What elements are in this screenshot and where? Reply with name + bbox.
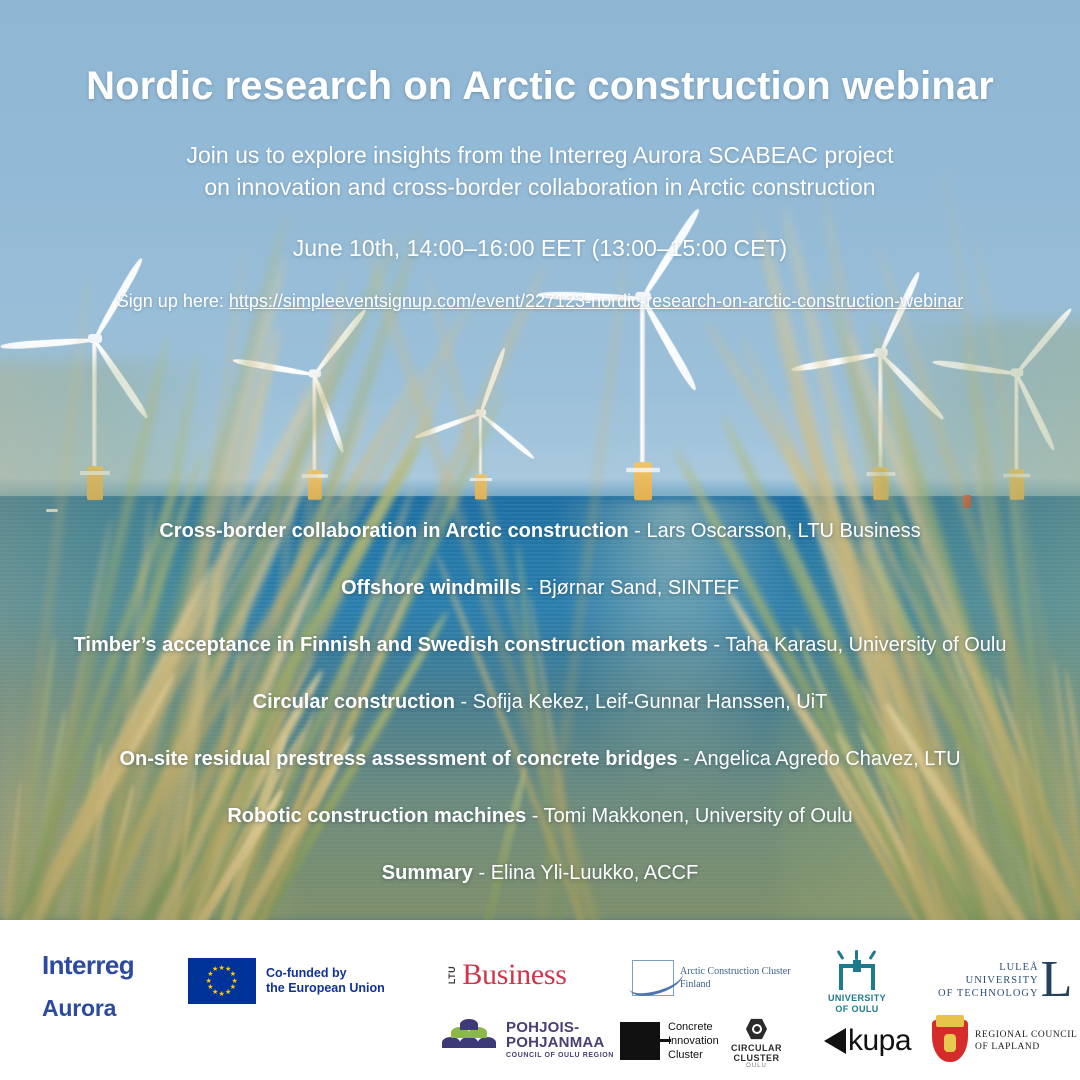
pohjois-fan-shape	[442, 1037, 460, 1048]
agenda-speaker: - Sofija Kekez, Leif-Gunnar Hanssen, UiT	[455, 691, 827, 713]
lapland-text: REGIONAL COUNCIL OF LAPLAND	[975, 1029, 1077, 1053]
lulea-initial-icon: L	[1041, 960, 1073, 1000]
eu-star-icon: ★	[219, 965, 225, 972]
logo-pohjois-pohjanmaa: POHJOIS- POHJANMAA COUNCIL OF OULU REGIO…	[440, 1020, 614, 1059]
event-datetime: June 10th, 14:00–16:00 EET (13:00–15:00 …	[0, 203, 1080, 262]
agenda-topic: Robotic construction machines	[227, 805, 526, 827]
agenda-speaker: - Angelica Agredo Chavez, LTU	[677, 748, 960, 770]
eu-star-icon: ★	[219, 991, 225, 998]
kupa-arrow-icon	[824, 1028, 846, 1054]
wind-turbine	[92, 338, 97, 498]
wind-turbine	[878, 352, 883, 498]
distant-boat	[46, 509, 58, 512]
pohjois-name: POHJOIS- POHJANMAA	[506, 1020, 614, 1050]
agenda-topic: Circular construction	[253, 691, 455, 713]
agenda-list: Cross-border collaboration in Arctic con…	[0, 520, 1080, 919]
accf-square-icon	[632, 960, 674, 996]
agenda-item: Robotic construction machines - Tomi Mak…	[0, 805, 1080, 828]
agenda-speaker: - Bjørnar Sand, SINTEF	[521, 577, 739, 599]
logo-concrete-innovation-cluster: Concrete Innovation Cluster	[620, 1020, 719, 1062]
signup-line: Sign up here: https://simpleeventsignup.…	[0, 262, 1080, 312]
eu-star-icon: ★	[225, 989, 231, 996]
logo-lulea-university-of-technology: LULEÅ UNIVERSITY OF TECHNOLOGY L	[938, 960, 1072, 1000]
agenda-topic: Summary	[382, 862, 473, 884]
circular-cluster-text: CIRCULAR CLUSTER	[731, 1043, 782, 1063]
oulu-text: UNIVERSITY OF OULU	[828, 993, 886, 1015]
agenda-speaker: - Tomi Makkonen, University of Oulu	[526, 805, 852, 827]
agenda-topic: Offshore windmills	[341, 577, 521, 599]
concrete-innovation-text: Concrete Innovation Cluster	[668, 1020, 719, 1062]
accf-text: Arctic Construction Cluster Finland	[680, 965, 791, 991]
concrete-square-icon	[620, 1022, 660, 1060]
agenda-speaker: - Taha Karasu, University of Oulu	[708, 634, 1007, 656]
oulu-castle-icon	[831, 950, 883, 990]
agenda-speaker: - Elina Yli-Luukko, ACCF	[473, 862, 698, 884]
logo-interreg-aurora: Interreg Aurora	[42, 950, 134, 1022]
wind-turbine	[1014, 372, 1019, 498]
logo-university-of-oulu: UNIVERSITY OF OULU	[828, 950, 886, 1015]
agenda-speaker: - Lars Oscarsson, LTU Business	[629, 520, 921, 542]
pohjois-fan-icon	[440, 1023, 498, 1057]
agenda-item: On-site residual prestress assessment of…	[0, 748, 1080, 771]
agenda-topic: On-site residual prestress assessment of…	[119, 748, 677, 770]
eu-flag-icon: ★★★★★★★★★★★★	[188, 958, 256, 1004]
eu-star-icon: ★	[212, 966, 218, 973]
agenda-item: Offshore windmills - Bjørnar Sand, SINTE…	[0, 577, 1080, 600]
sea-buoy	[963, 495, 971, 508]
page-title: Nordic research on Arctic construction w…	[0, 0, 1080, 109]
partner-logos-footer: Interreg Aurora ★★★★★★★★★★★★ Co-funded b…	[0, 920, 1080, 1080]
header: Nordic research on Arctic construction w…	[0, 0, 1080, 312]
eu-star-icon: ★	[207, 984, 213, 991]
subtitle-line-1: Join us to explore insights from the Int…	[187, 142, 894, 168]
circular-cluster-subtitle: OULU	[746, 1063, 767, 1069]
signup-label: Sign up here:	[117, 291, 229, 311]
interreg-wordmark: Interreg	[42, 950, 134, 981]
circular-hex-icon	[746, 1018, 768, 1040]
wind-turbine	[312, 373, 316, 498]
pohjois-fan-shape	[460, 1037, 478, 1048]
agenda-item: Circular construction - Sofija Kekez, Le…	[0, 691, 1080, 714]
agenda-item: Cross-border collaboration in Arctic con…	[0, 520, 1080, 543]
agenda-item: Timber’s acceptance in Finnish and Swedi…	[0, 634, 1080, 657]
pohjois-fan-shape	[478, 1037, 496, 1048]
pohjois-fan-shape	[460, 1019, 478, 1030]
subtitle-line-2: on innovation and cross-border collabora…	[204, 174, 875, 200]
eu-cofunded-text: Co-funded by the European Union	[266, 966, 385, 996]
wind-turbine	[479, 412, 483, 498]
logo-circular-cluster: CIRCULAR CLUSTER OULU	[731, 1018, 782, 1069]
agenda-topic: Cross-border collaboration in Arctic con…	[159, 520, 628, 542]
interreg-programme-label: Aurora	[42, 995, 116, 1022]
ltu-business-wordmark: Business	[462, 958, 566, 992]
eu-star-icon: ★	[206, 978, 212, 985]
logo-ltu-business: LTU Business	[443, 958, 567, 992]
kupa-wordmark: kupa	[848, 1024, 911, 1058]
pohjois-subtitle: COUNCIL OF OULU REGION	[506, 1052, 614, 1059]
agenda-topic: Timber’s acceptance in Finnish and Swedi…	[74, 634, 708, 656]
agenda-item: Summary - Elina Yli-Luukko, ACCF	[0, 862, 1080, 885]
signup-link[interactable]: https://simpleeventsignup.com/event/2271…	[229, 291, 963, 311]
ltu-mark: LTU	[447, 966, 457, 984]
logo-kupa: kupa	[824, 1024, 911, 1058]
lapland-coat-of-arms-icon	[932, 1020, 968, 1062]
subtitle: Join us to explore insights from the Int…	[0, 109, 1080, 203]
wind-turbine	[640, 296, 646, 498]
lulea-text: LULEÅ UNIVERSITY OF TECHNOLOGY	[938, 961, 1039, 1000]
webinar-poster: Nordic research on Arctic construction w…	[0, 0, 1080, 1080]
pohjois-text-block: POHJOIS- POHJANMAA COUNCIL OF OULU REGIO…	[506, 1020, 614, 1059]
logo-eu-cofunded: ★★★★★★★★★★★★ Co-funded by the European U…	[188, 958, 385, 1004]
logo-regional-council-of-lapland: REGIONAL COUNCIL OF LAPLAND	[932, 1020, 1077, 1062]
logo-arctic-construction-cluster: Arctic Construction Cluster Finland	[632, 960, 791, 996]
